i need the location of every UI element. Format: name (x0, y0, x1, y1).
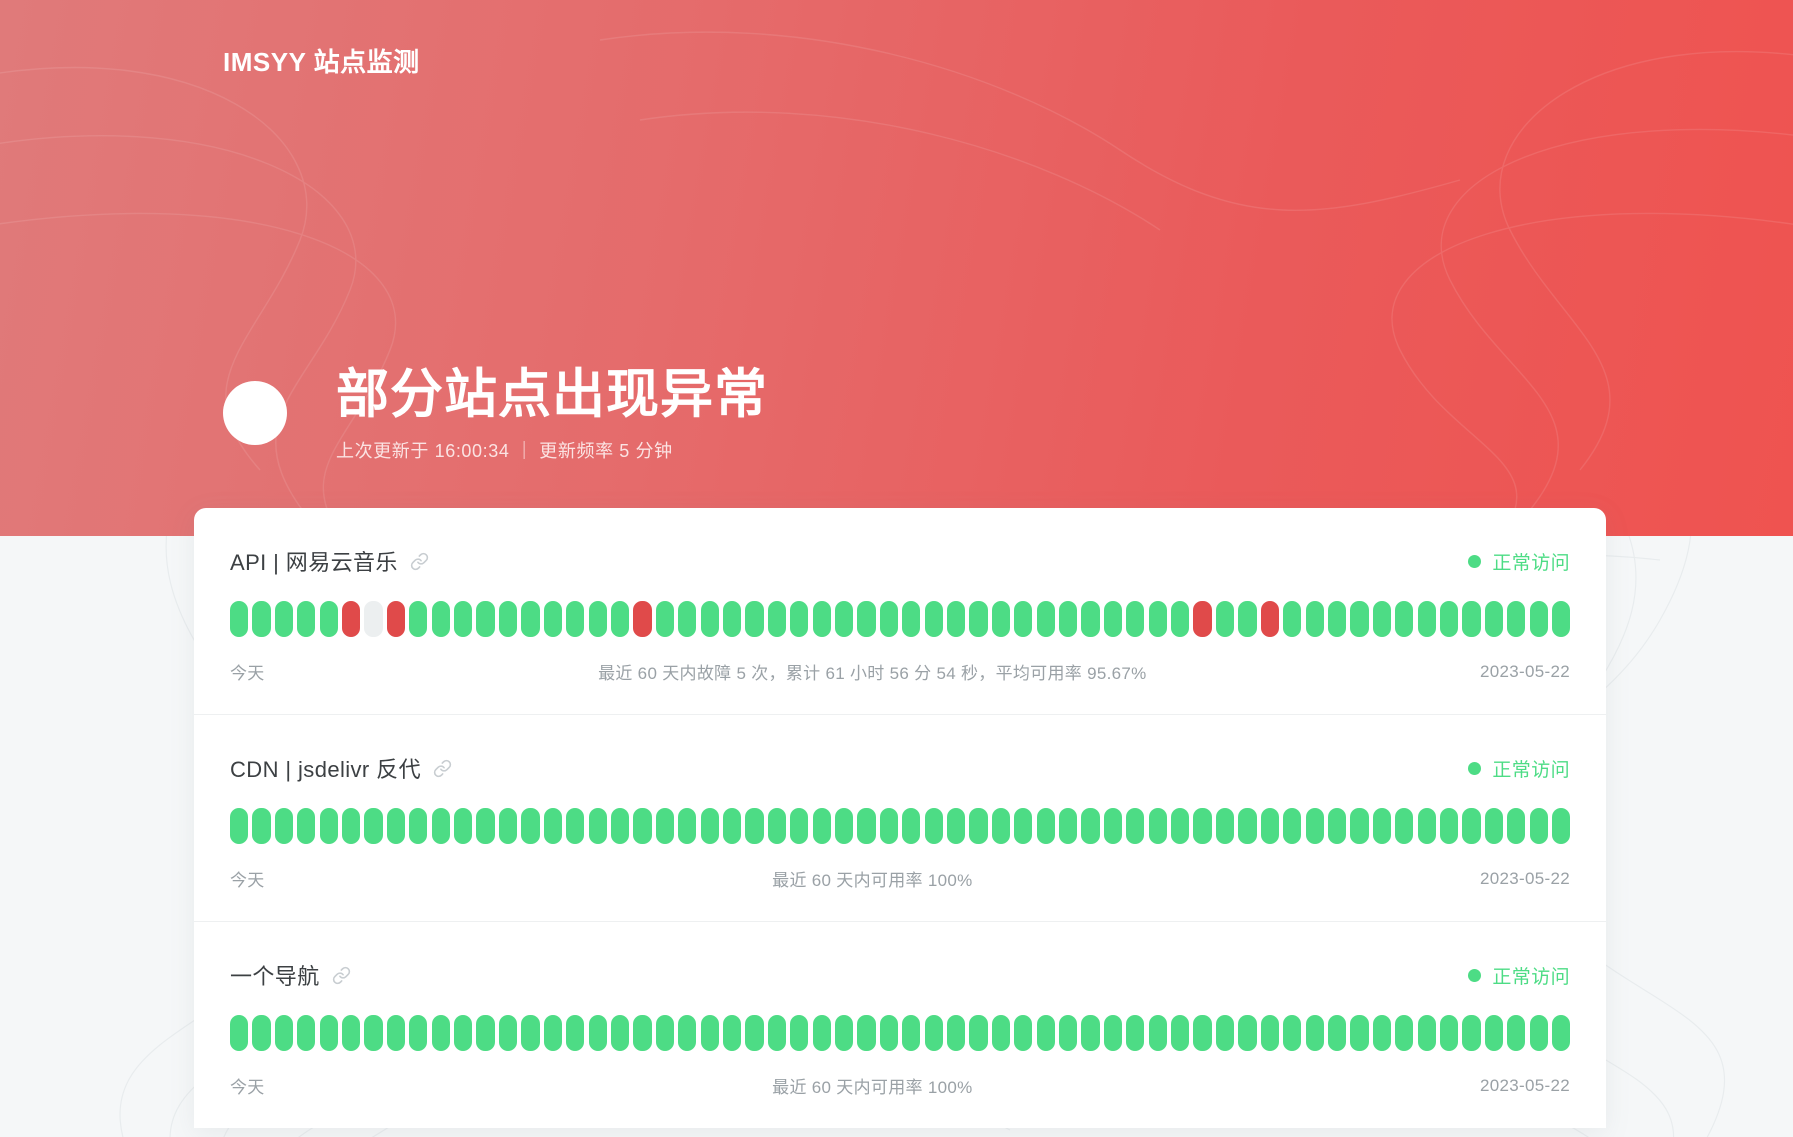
site-title: API | 网易云音乐 (230, 545, 398, 577)
uptime-day-bar[interactable] (701, 1015, 719, 1051)
uptime-day-bar[interactable] (1104, 1015, 1122, 1051)
uptime-day-bar[interactable] (745, 1015, 763, 1051)
uptime-day-bar[interactable] (476, 808, 494, 844)
uptime-day-bar[interactable] (925, 808, 943, 844)
uptime-day-bar[interactable] (1081, 1015, 1099, 1051)
uptime-day-bar[interactable] (633, 601, 651, 637)
link-icon[interactable] (433, 759, 452, 778)
status-badge: 正常访问 (1468, 755, 1570, 782)
uptime-day-bar[interactable] (364, 1015, 382, 1051)
uptime-day-bar[interactable] (969, 1015, 987, 1051)
card-footer: 今天最近 60 天内可用率 100%2023-05-22 (230, 866, 1570, 891)
status-label: 正常访问 (1492, 962, 1570, 989)
card-header: API | 网易云音乐 正常访问 (230, 545, 1570, 577)
uptime-day-bar[interactable] (1395, 1015, 1413, 1051)
uptime-day-bar[interactable] (1283, 601, 1301, 637)
uptime-day-bar[interactable] (1530, 808, 1548, 844)
uptime-day-bar[interactable] (1462, 808, 1480, 844)
uptime-day-bar[interactable] (925, 601, 943, 637)
uptime-day-bar[interactable] (432, 808, 450, 844)
uptime-day-bar[interactable] (656, 601, 674, 637)
range-end-date: 2023-05-22 (1480, 1076, 1570, 1096)
uptime-summary-text: 最近 60 天内可用率 100% (265, 1073, 1480, 1098)
uptime-day-bar[interactable] (544, 601, 562, 637)
uptime-day-bar[interactable] (880, 1015, 898, 1051)
uptime-day-bar[interactable] (1328, 1015, 1346, 1051)
uptime-day-bar[interactable] (611, 1015, 629, 1051)
uptime-day-bar[interactable] (1149, 601, 1167, 637)
uptime-day-bar[interactable] (1328, 808, 1346, 844)
uptime-day-bar[interactable] (275, 1015, 293, 1051)
status-badge: 正常访问 (1468, 548, 1570, 575)
brand-title: IMSYY 站点监测 (223, 42, 420, 79)
uptime-day-bar[interactable] (566, 1015, 584, 1051)
uptime-day-bar[interactable] (1014, 601, 1032, 637)
site-monitor-card: API | 网易云音乐 正常访问今天最近 60 天内故障 5 次，累计 61 小… (194, 508, 1606, 715)
uptime-day-bar[interactable] (320, 1015, 338, 1051)
uptime-day-bar[interactable] (1328, 601, 1346, 637)
uptime-day-bar[interactable] (947, 1015, 965, 1051)
range-end-date: 2023-05-22 (1480, 662, 1570, 682)
uptime-day-bar[interactable] (454, 601, 472, 637)
uptime-day-bar[interactable] (1552, 808, 1570, 844)
status-label: 正常访问 (1492, 755, 1570, 782)
uptime-day-bar[interactable] (925, 1015, 943, 1051)
uptime-day-bar[interactable] (656, 808, 674, 844)
uptime-day-bar[interactable] (1283, 808, 1301, 844)
uptime-day-bar[interactable] (1238, 808, 1256, 844)
site-monitor-card-list: API | 网易云音乐 正常访问今天最近 60 天内故障 5 次，累计 61 小… (194, 508, 1606, 1128)
uptime-day-bar[interactable] (521, 808, 539, 844)
uptime-day-bar[interactable] (1261, 1015, 1279, 1051)
uptime-day-bar[interactable] (633, 808, 651, 844)
uptime-summary-text: 最近 60 天内可用率 100% (265, 866, 1480, 891)
uptime-day-bar[interactable] (454, 1015, 472, 1051)
uptime-day-bar[interactable] (1126, 601, 1144, 637)
uptime-day-bar[interactable] (1418, 1015, 1436, 1051)
uptime-day-bar[interactable] (476, 1015, 494, 1051)
uptime-day-bar[interactable] (1440, 808, 1458, 844)
uptime-day-bar[interactable] (1081, 808, 1099, 844)
uptime-day-bar[interactable] (409, 601, 427, 637)
uptime-day-bar[interactable] (1149, 1015, 1167, 1051)
uptime-day-bar[interactable] (589, 808, 607, 844)
uptime-bar-strip (230, 808, 1570, 844)
uptime-day-bar[interactable] (902, 601, 920, 637)
uptime-day-bar[interactable] (275, 601, 293, 637)
uptime-day-bar[interactable] (880, 808, 898, 844)
uptime-day-bar[interactable] (1171, 808, 1189, 844)
uptime-day-bar[interactable] (1395, 808, 1413, 844)
uptime-day-bar[interactable] (857, 601, 875, 637)
uptime-day-bar[interactable] (656, 1015, 674, 1051)
status-dot-icon (1468, 762, 1481, 775)
uptime-day-bar[interactable] (544, 1015, 562, 1051)
card-header: 一个导航 正常访问 (230, 959, 1570, 991)
uptime-day-bar[interactable] (1014, 808, 1032, 844)
uptime-day-bar[interactable] (857, 1015, 875, 1051)
uptime-day-bar[interactable] (1261, 601, 1279, 637)
overall-status-indicator-dot (223, 381, 287, 445)
uptime-day-bar[interactable] (813, 808, 831, 844)
uptime-day-bar[interactable] (1193, 808, 1211, 844)
uptime-day-bar[interactable] (1171, 601, 1189, 637)
uptime-day-bar[interactable] (1193, 1015, 1211, 1051)
status-dot-icon (1468, 555, 1481, 568)
uptime-day-bar[interactable] (768, 1015, 786, 1051)
uptime-day-bar[interactable] (1216, 808, 1234, 844)
uptime-day-bar[interactable] (1485, 808, 1503, 844)
site-title-group: API | 网易云音乐 (230, 545, 429, 577)
uptime-day-bar[interactable] (813, 1015, 831, 1051)
uptime-day-bar[interactable] (745, 808, 763, 844)
uptime-day-bar[interactable] (992, 601, 1010, 637)
uptime-day-bar[interactable] (230, 1015, 248, 1051)
uptime-day-bar[interactable] (1418, 601, 1436, 637)
uptime-day-bar[interactable] (992, 1015, 1010, 1051)
uptime-day-bar[interactable] (611, 601, 629, 637)
uptime-day-bar[interactable] (857, 808, 875, 844)
status-badge: 正常访问 (1468, 962, 1570, 989)
uptime-day-bar[interactable] (1395, 601, 1413, 637)
uptime-day-bar[interactable] (275, 808, 293, 844)
uptime-day-bar[interactable] (1507, 601, 1525, 637)
uptime-day-bar[interactable] (1216, 601, 1234, 637)
status-label: 正常访问 (1492, 548, 1570, 575)
uptime-day-bar[interactable] (790, 808, 808, 844)
uptime-day-bar[interactable] (566, 808, 584, 844)
uptime-day-bar[interactable] (1037, 1015, 1055, 1051)
uptime-day-bar[interactable] (1238, 1015, 1256, 1051)
uptime-day-bar[interactable] (1485, 601, 1503, 637)
uptime-day-bar[interactable] (364, 808, 382, 844)
overall-status-texts: 部分站点出现异常 上次更新于 16:00:34 ｜ 更新频率 5 分钟 (336, 365, 768, 463)
uptime-day-bar[interactable] (723, 808, 741, 844)
uptime-day-bar[interactable] (1462, 601, 1480, 637)
site-monitor-card: 一个导航 正常访问今天最近 60 天内可用率 100%2023-05-22 (194, 922, 1606, 1128)
uptime-day-bar[interactable] (723, 601, 741, 637)
uptime-day-bar[interactable] (342, 1015, 360, 1051)
uptime-day-bar[interactable] (1350, 1015, 1368, 1051)
uptime-day-bar[interactable] (1440, 1015, 1458, 1051)
uptime-day-bar[interactable] (297, 1015, 315, 1051)
uptime-day-bar[interactable] (499, 601, 517, 637)
uptime-day-bar[interactable] (947, 808, 965, 844)
uptime-day-bar[interactable] (701, 601, 719, 637)
range-start-label: 今天 (230, 1073, 265, 1098)
uptime-day-bar[interactable] (589, 601, 607, 637)
uptime-day-bar[interactable] (790, 601, 808, 637)
uptime-day-bar[interactable] (1440, 601, 1458, 637)
site-title-group: 一个导航 (230, 959, 351, 991)
uptime-day-bar[interactable] (252, 808, 270, 844)
range-end-date: 2023-05-22 (1480, 869, 1570, 889)
uptime-day-bar[interactable] (790, 1015, 808, 1051)
uptime-day-bar[interactable] (1059, 601, 1077, 637)
uptime-day-bar[interactable] (387, 1015, 405, 1051)
uptime-day-bar[interactable] (1306, 1015, 1324, 1051)
range-start-label: 今天 (230, 659, 265, 684)
uptime-day-bar[interactable] (992, 808, 1010, 844)
uptime-day-bar[interactable] (1306, 808, 1324, 844)
uptime-day-bar[interactable] (1507, 808, 1525, 844)
uptime-day-bar[interactable] (544, 808, 562, 844)
uptime-day-bar[interactable] (1552, 601, 1570, 637)
uptime-day-bar[interactable] (1171, 1015, 1189, 1051)
uptime-day-bar[interactable] (297, 808, 315, 844)
overall-status-title: 部分站点出现异常 (336, 365, 768, 424)
uptime-day-bar[interactable] (476, 601, 494, 637)
uptime-day-bar[interactable] (835, 601, 853, 637)
uptime-day-bar[interactable] (813, 601, 831, 637)
uptime-day-bar[interactable] (1552, 1015, 1570, 1051)
uptime-day-bar[interactable] (1530, 1015, 1548, 1051)
uptime-day-bar[interactable] (1126, 1015, 1144, 1051)
link-icon[interactable] (410, 552, 429, 571)
uptime-day-bar[interactable] (1485, 1015, 1503, 1051)
uptime-day-bar[interactable] (252, 601, 270, 637)
uptime-day-bar[interactable] (1350, 808, 1368, 844)
overall-status-block: 部分站点出现异常 上次更新于 16:00:34 ｜ 更新频率 5 分钟 (223, 365, 768, 463)
uptime-day-bar[interactable] (1261, 808, 1279, 844)
site-title: CDN | jsdelivr 反代 (230, 752, 421, 784)
uptime-day-bar[interactable] (387, 601, 405, 637)
page-root: IMSYY 站点监测 部分站点出现异常 上次更新于 16:00:34 ｜ 更新频… (0, 0, 1793, 1137)
uptime-day-bar[interactable] (252, 1015, 270, 1051)
site-monitor-card: CDN | jsdelivr 反代 正常访问今天最近 60 天内可用率 100%… (194, 715, 1606, 922)
uptime-day-bar[interactable] (745, 601, 763, 637)
uptime-day-bar[interactable] (409, 808, 427, 844)
uptime-day-bar[interactable] (969, 808, 987, 844)
uptime-day-bar[interactable] (1373, 808, 1391, 844)
uptime-day-bar[interactable] (880, 601, 898, 637)
uptime-day-bar[interactable] (1530, 601, 1548, 637)
uptime-bar-strip (230, 1015, 1570, 1051)
uptime-day-bar[interactable] (521, 1015, 539, 1051)
uptime-day-bar[interactable] (1373, 601, 1391, 637)
uptime-day-bar[interactable] (1126, 808, 1144, 844)
uptime-bar-strip (230, 601, 1570, 637)
uptime-day-bar[interactable] (1373, 1015, 1391, 1051)
uptime-day-bar[interactable] (633, 1015, 651, 1051)
uptime-day-bar[interactable] (297, 601, 315, 637)
uptime-day-bar[interactable] (969, 601, 987, 637)
site-title: 一个导航 (230, 959, 320, 991)
uptime-day-bar[interactable] (499, 1015, 517, 1051)
uptime-day-bar[interactable] (1149, 808, 1167, 844)
uptime-day-bar[interactable] (230, 601, 248, 637)
hero-header: IMSYY 站点监测 部分站点出现异常 上次更新于 16:00:34 ｜ 更新频… (0, 0, 1793, 536)
uptime-day-bar[interactable] (678, 1015, 696, 1051)
uptime-day-bar[interactable] (902, 1015, 920, 1051)
uptime-day-bar[interactable] (835, 808, 853, 844)
uptime-day-bar[interactable] (320, 808, 338, 844)
uptime-day-bar[interactable] (1037, 808, 1055, 844)
uptime-day-bar[interactable] (1216, 1015, 1234, 1051)
site-title-group: CDN | jsdelivr 反代 (230, 752, 452, 784)
card-footer: 今天最近 60 天内可用率 100%2023-05-22 (230, 1073, 1570, 1098)
last-updated-text: 上次更新于 16:00:34 ｜ 更新频率 5 分钟 (336, 437, 768, 463)
uptime-day-bar[interactable] (835, 1015, 853, 1051)
uptime-day-bar[interactable] (1193, 601, 1211, 637)
uptime-day-bar[interactable] (1014, 1015, 1032, 1051)
uptime-day-bar[interactable] (230, 808, 248, 844)
card-footer: 今天最近 60 天内故障 5 次，累计 61 小时 56 分 54 秒，平均可用… (230, 659, 1570, 684)
uptime-day-bar[interactable] (566, 601, 584, 637)
card-header: CDN | jsdelivr 反代 正常访问 (230, 752, 1570, 784)
range-start-label: 今天 (230, 866, 265, 891)
status-dot-icon (1468, 969, 1481, 982)
uptime-day-bar[interactable] (768, 601, 786, 637)
uptime-day-bar[interactable] (1081, 601, 1099, 637)
uptime-day-bar[interactable] (723, 1015, 741, 1051)
uptime-day-bar[interactable] (1283, 1015, 1301, 1051)
uptime-summary-text: 最近 60 天内故障 5 次，累计 61 小时 56 分 54 秒，平均可用率 … (265, 659, 1480, 684)
uptime-day-bar[interactable] (1104, 601, 1122, 637)
uptime-day-bar[interactable] (589, 1015, 607, 1051)
uptime-day-bar[interactable] (342, 808, 360, 844)
uptime-day-bar[interactable] (432, 601, 450, 637)
uptime-day-bar[interactable] (1462, 1015, 1480, 1051)
uptime-day-bar[interactable] (1350, 601, 1368, 637)
link-icon[interactable] (332, 966, 351, 985)
uptime-day-bar[interactable] (678, 601, 696, 637)
uptime-day-bar[interactable] (1104, 808, 1122, 844)
uptime-day-bar[interactable] (342, 601, 360, 637)
uptime-day-bar[interactable] (1238, 601, 1256, 637)
uptime-day-bar[interactable] (1037, 601, 1055, 637)
uptime-day-bar[interactable] (1059, 808, 1077, 844)
uptime-day-bar[interactable] (678, 808, 696, 844)
uptime-day-bar[interactable] (1306, 601, 1324, 637)
uptime-day-bar[interactable] (947, 601, 965, 637)
uptime-day-bar[interactable] (768, 808, 786, 844)
uptime-day-bar[interactable] (701, 808, 719, 844)
uptime-day-bar[interactable] (320, 601, 338, 637)
uptime-day-bar[interactable] (611, 808, 629, 844)
uptime-day-bar[interactable] (432, 1015, 450, 1051)
uptime-day-bar[interactable] (521, 601, 539, 637)
uptime-day-bar[interactable] (1418, 808, 1436, 844)
uptime-day-bar[interactable] (1059, 1015, 1077, 1051)
uptime-day-bar[interactable] (409, 1015, 427, 1051)
uptime-day-bar[interactable] (454, 808, 472, 844)
uptime-day-bar[interactable] (387, 808, 405, 844)
uptime-day-bar[interactable] (499, 808, 517, 844)
uptime-day-bar[interactable] (902, 808, 920, 844)
uptime-day-bar[interactable] (364, 601, 382, 637)
uptime-day-bar[interactable] (1507, 1015, 1525, 1051)
